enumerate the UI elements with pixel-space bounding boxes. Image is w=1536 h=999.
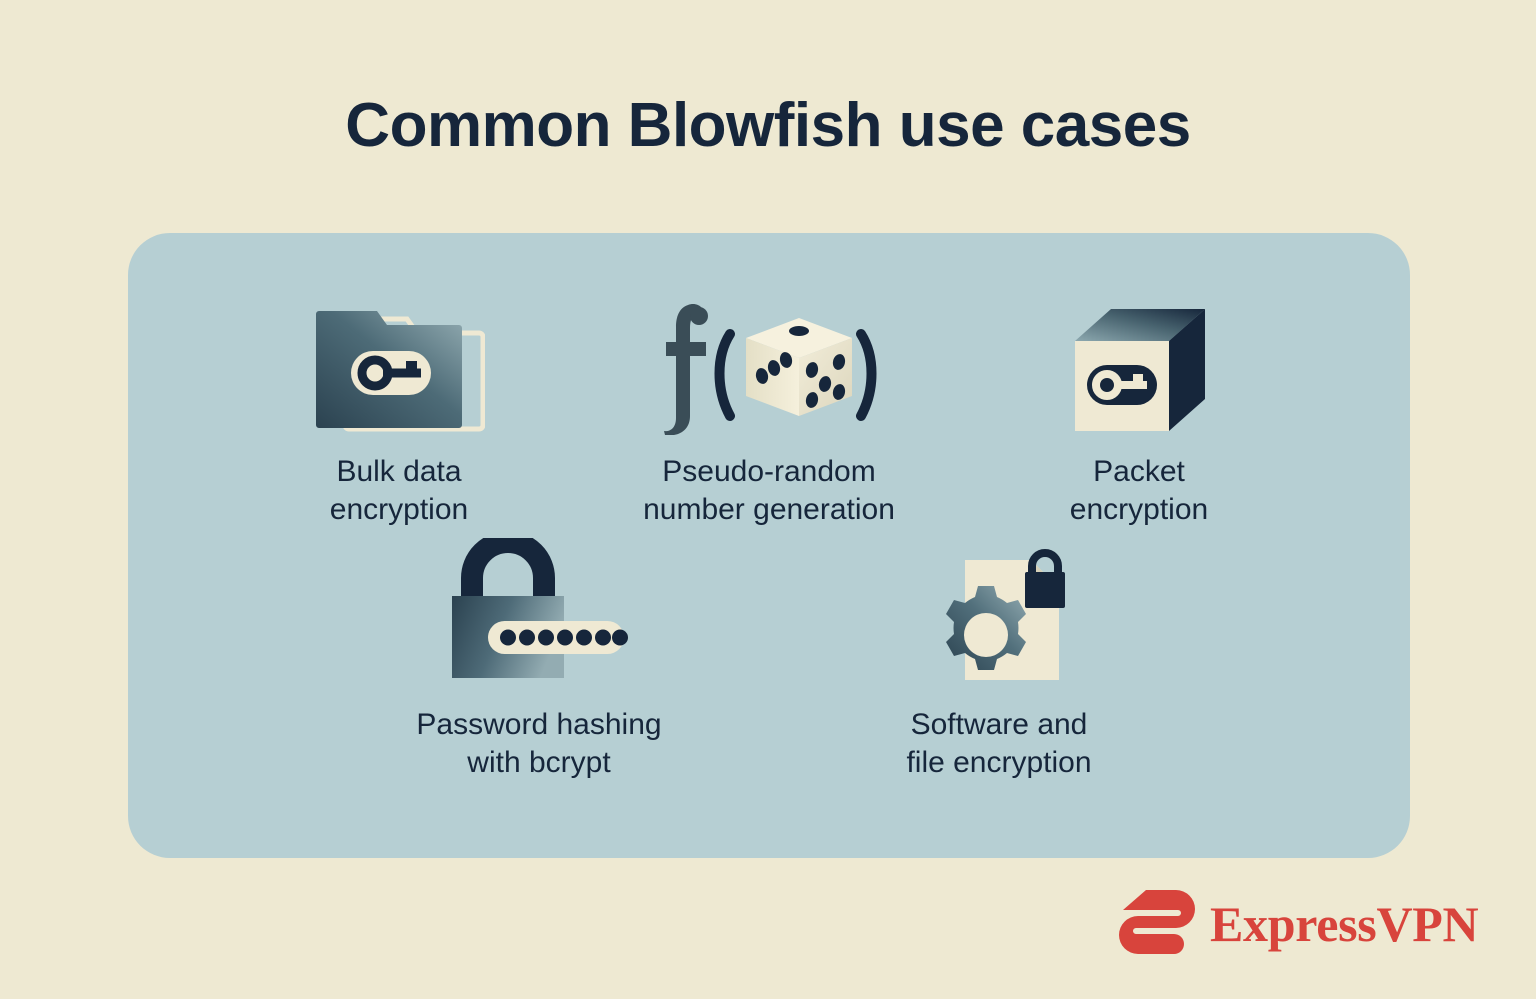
use-case-label: Bulk data encryption bbox=[330, 453, 468, 528]
expressvpn-wordmark: ExpressVPN bbox=[1210, 895, 1478, 953]
cube-key-icon bbox=[1069, 285, 1209, 435]
padlock-password-icon bbox=[444, 538, 634, 688]
function-dice-icon bbox=[658, 285, 880, 435]
gear-document-lock-icon bbox=[919, 538, 1079, 688]
use-case-label: Packet encryption bbox=[1070, 453, 1208, 528]
folder-key-icon bbox=[313, 285, 485, 435]
use-case-bulk-data-encryption: Bulk data encryption bbox=[249, 285, 549, 528]
use-case-label: Software and file encryption bbox=[906, 706, 1091, 781]
use-case-password-hashing-bcrypt: Password hashing with bcrypt bbox=[389, 538, 689, 781]
use-case-label: Password hashing with bcrypt bbox=[416, 706, 661, 781]
use-case-row-bottom: Password hashing with bcrypt bbox=[128, 538, 1410, 781]
use-case-packet-encryption: Packet encryption bbox=[989, 285, 1289, 528]
use-case-row-top: Bulk data encryption bbox=[128, 285, 1410, 528]
use-case-software-file-encryption: Software and file encryption bbox=[849, 538, 1149, 781]
use-case-label: Pseudo-random number generation bbox=[643, 453, 895, 528]
use-case-pseudo-random-number-generation: Pseudo-random number generation bbox=[619, 285, 919, 528]
use-case-card: Bulk data encryption bbox=[128, 233, 1410, 858]
page-title: Common Blowfish use cases bbox=[0, 92, 1536, 160]
expressvpn-e-mark-icon bbox=[1118, 888, 1196, 959]
expressvpn-logo: ExpressVPN bbox=[1118, 888, 1478, 959]
